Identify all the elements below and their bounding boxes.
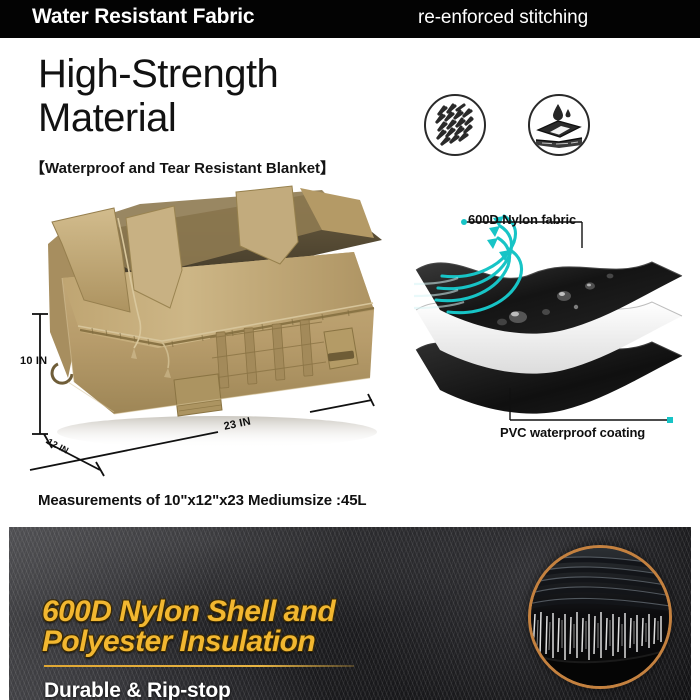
product-infographic: Water Resistant Fabric re-enforced stitc… — [0, 0, 700, 700]
fabric-bottom-layer-label: PVC waterproof coating — [500, 425, 645, 440]
fabric-top-layer-label: 600D Nylon fabric — [468, 212, 576, 227]
measurements-caption: Measurements of 10"x12"x23 Mediumsize :4… — [38, 492, 367, 509]
product-photo — [22, 182, 422, 472]
woven-mesh-icon — [424, 94, 486, 156]
page-title: High-Strength Material — [38, 52, 418, 140]
fiber-closeup-inset — [528, 545, 672, 689]
bottom-panel-headline: 600D Nylon Shell and Polyester Insulatio… — [42, 597, 335, 657]
gold-divider — [44, 665, 354, 667]
page-subtitle: 【Waterproof and Tear Resistant Blanket】 — [30, 157, 335, 178]
banner-right-text: re-enforced stitching — [418, 7, 588, 29]
dimension-height-label: 10 IN — [20, 355, 47, 367]
banner-left-text: Water Resistant Fabric — [32, 5, 254, 29]
bottom-feature-panel: 600D Nylon Shell and Polyester Insulatio… — [9, 527, 691, 700]
fabric-layer-diagram — [414, 204, 696, 450]
top-banner: Water Resistant Fabric re-enforced stitc… — [0, 0, 700, 38]
bottom-panel-subtext: Durable & Rip-stop — [44, 679, 231, 700]
waterproof-drop-icon — [528, 94, 590, 156]
